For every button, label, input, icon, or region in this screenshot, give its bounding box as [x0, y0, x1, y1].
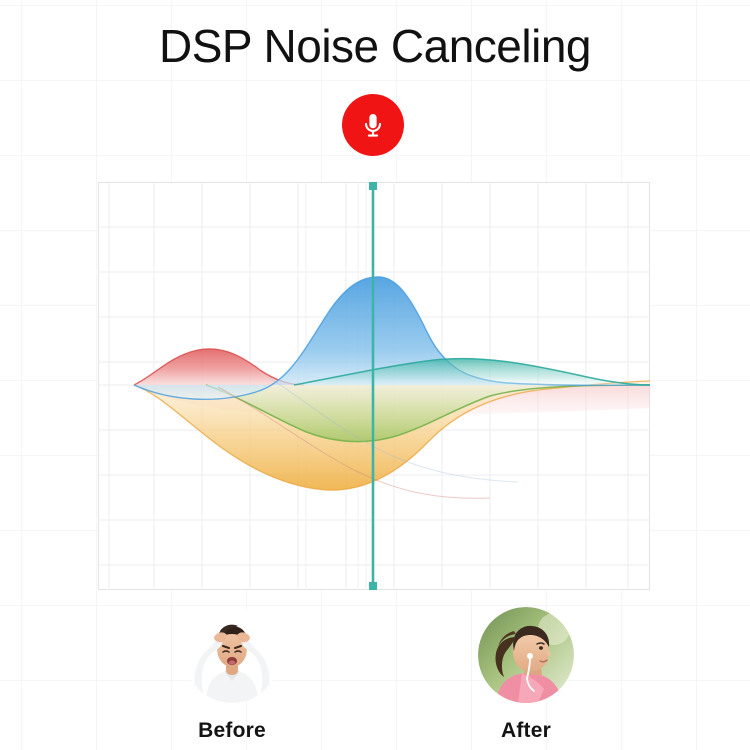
product-infographic-page: DSP Noise Canceling: [0, 0, 750, 750]
noise-canceling-waveform-chart: [98, 182, 650, 590]
waveform-svg: [98, 182, 650, 590]
before-photo: [184, 607, 280, 703]
page-title: DSP Noise Canceling: [0, 17, 750, 75]
after-caption: After: [446, 719, 606, 743]
after-photo: [478, 607, 574, 703]
before-caption: Before: [152, 719, 312, 743]
microphone-icon: [358, 110, 388, 140]
microphone-badge[interactable]: [342, 94, 404, 156]
comparison-before: Before: [152, 607, 312, 743]
comparison-after: After: [446, 607, 606, 743]
